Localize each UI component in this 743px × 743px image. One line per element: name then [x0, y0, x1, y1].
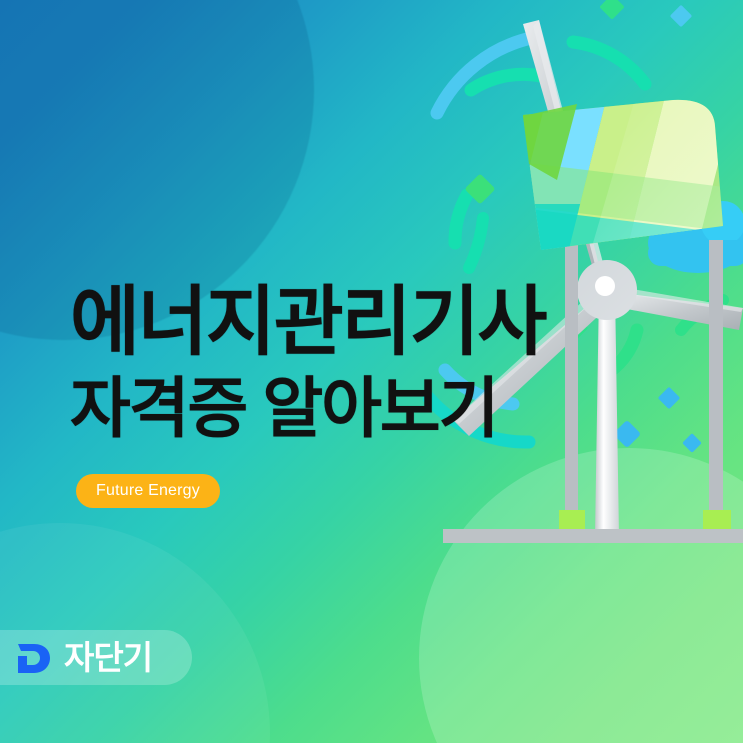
brand-name: 자단기 [64, 641, 152, 674]
d-logo-icon [16, 640, 50, 676]
headline-line-2: 자격증 알아보기 [70, 375, 690, 441]
brand-logo[interactable]: 자단기 [0, 630, 192, 685]
category-badge[interactable]: Future Energy [76, 474, 220, 508]
headline-line-1: 에너지관리기사 [70, 285, 690, 361]
poster-canvas: 에너지관리기사 자격증 알아보기 Future Energy 자단기 [0, 0, 743, 743]
page-title: 에너지관리기사 자격증 알아보기 [70, 285, 690, 441]
